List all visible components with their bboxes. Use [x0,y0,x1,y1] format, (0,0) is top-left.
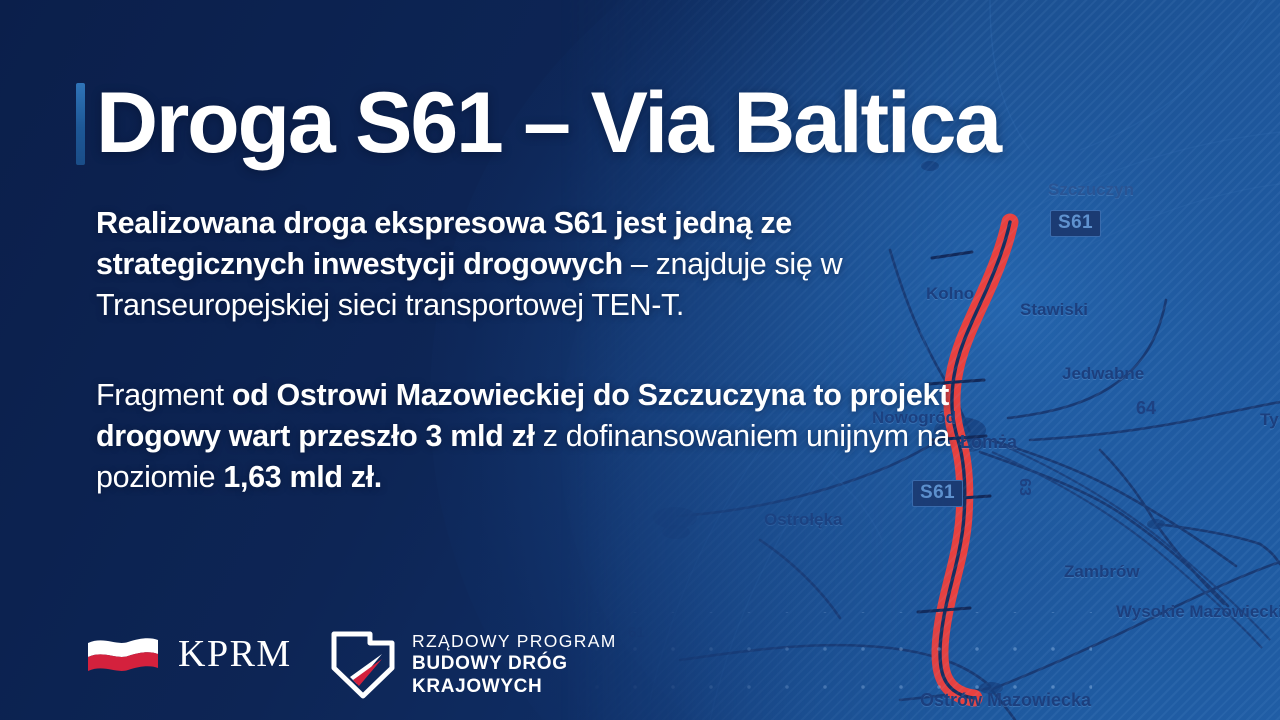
paragraph-1: Realizowana droga ekspresowa S61 jest je… [96,203,996,326]
program-line-3: KRAJOWYCH [412,675,617,698]
paragraph-2-light-1: Fragment [96,378,232,412]
paragraph-2: Fragment od Ostrowi Mazowieckiej do Szcz… [96,375,996,498]
polish-flag-icon [86,634,160,674]
footer-logos: KPRM RZĄDOWY PROGRAM BUDOWY DRÓG KRAJOWY… [0,610,1280,720]
infographic-root: Szczuczyn S61 Kolno Stawiski Jedwabne No… [0,0,1280,720]
program-line-1: RZĄDOWY PROGRAM [412,631,617,652]
body-copy: Realizowana droga ekspresowa S61 jest je… [96,203,996,498]
kprm-logo: KPRM [86,634,292,674]
program-line-2: BUDOWY DRÓG [412,652,617,675]
page-title: Droga S61 – Via Baltica [96,74,1256,172]
government-road-program-logo: RZĄDOWY PROGRAM BUDOWY DRÓG KRAJOWYCH [330,628,617,700]
title-accent-bar [76,83,85,165]
kprm-wordmark: KPRM [178,635,292,673]
road-shield-icon [330,628,396,700]
program-wordmark: RZĄDOWY PROGRAM BUDOWY DRÓG KRAJOWYCH [412,631,617,698]
paragraph-2-bold-2: 1,63 mld zł. [223,460,382,494]
